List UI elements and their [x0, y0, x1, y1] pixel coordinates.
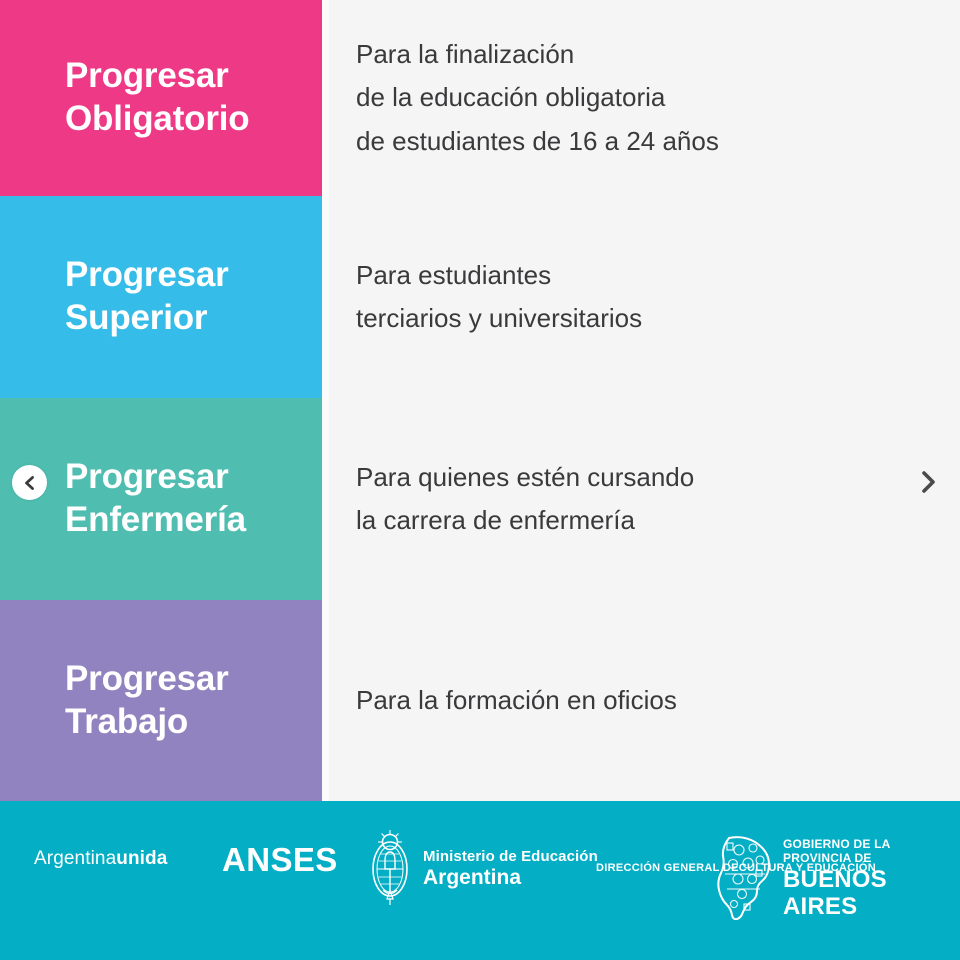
program-title-cell-enfermeria: Progresar Enfermería: [0, 398, 322, 600]
desc-line-1: Para la finalización: [356, 33, 900, 76]
program-desc-cell-enfermeria: Para quienes estén cursando la carrera d…: [329, 398, 960, 600]
program-title-enfermeria: Progresar Enfermería: [0, 456, 322, 541]
program-title-line1: Progresar: [65, 56, 229, 95]
column-divider: [322, 0, 329, 196]
program-title-line1: Progresar: [65, 457, 229, 496]
column-divider: [322, 196, 329, 398]
column-divider: [322, 398, 329, 600]
buenos-aires-wordmark: GOBIERNO DE LA PROVINCIA DE BUENOS AIRES: [783, 838, 960, 921]
buenos-aires-line1: GOBIERNO DE LA PROVINCIA DE: [783, 838, 960, 866]
program-title-cell-obligatorio: Progresar Obligatorio: [0, 0, 322, 196]
ministerio-line2: Argentina: [423, 866, 598, 891]
ministerio-wordmark: Ministerio de Educación Argentina: [423, 848, 598, 890]
desc-line-2: la carrera de enfermería: [356, 499, 900, 542]
program-title-trabajo: Progresar Trabajo: [0, 658, 322, 743]
desc-line-1: Para quienes estén cursando: [356, 456, 900, 499]
argentina-unida-bold: unida: [116, 848, 167, 870]
desc-line-2: de la educación obligatoria: [356, 76, 900, 119]
program-row-superior[interactable]: Progresar Superior Para estudiantes terc…: [0, 196, 960, 398]
ministerio-line1: Ministerio de Educación: [423, 848, 598, 866]
program-title-line2: Trabajo: [65, 701, 316, 744]
program-desc-cell-obligatorio: Para la finalización de la educación obl…: [329, 0, 960, 196]
program-description-obligatorio: Para la finalización de la educación obl…: [329, 33, 960, 162]
program-description-superior: Para estudiantes terciarios y universita…: [329, 254, 960, 340]
program-desc-cell-superior: Para estudiantes terciarios y universita…: [329, 196, 960, 398]
program-title-obligatorio: Progresar Obligatorio: [0, 55, 322, 140]
footer-logo-bar: Argentina unida ANSES: [0, 801, 960, 960]
chevron-left-icon: [21, 474, 39, 492]
program-title-cell-trabajo: Progresar Trabajo: [0, 600, 322, 801]
program-row-enfermeria[interactable]: Progresar Enfermería Para quienes estén …: [0, 398, 960, 600]
logo-gobierno-provincia-buenos-aires: GOBIERNO DE LA PROVINCIA DE BUENOS AIRES: [715, 834, 960, 925]
argentina-unida-light: Argentina: [34, 848, 116, 870]
logo-argentina-unida: Argentina unida: [34, 848, 167, 870]
progresar-infographic: Progresar Obligatorio Para la finalizaci…: [0, 0, 960, 960]
argentina-coat-of-arms-icon: [367, 828, 413, 911]
program-description-enfermeria: Para quienes estén cursando la carrera d…: [329, 456, 960, 542]
program-title-superior: Progresar Superior: [0, 254, 322, 339]
logo-anses: ANSES: [222, 841, 338, 879]
desc-line-1: Para la formación en oficios: [356, 679, 900, 722]
anses-wordmark: ANSES: [222, 841, 338, 879]
program-row-obligatorio[interactable]: Progresar Obligatorio Para la finalizaci…: [0, 0, 960, 196]
chevron-right-icon: [917, 468, 939, 496]
program-desc-cell-trabajo: Para la formación en oficios: [329, 600, 960, 801]
buenos-aires-line2: BUENOS AIRES: [783, 866, 960, 922]
program-title-cell-superior: Progresar Superior: [0, 196, 322, 398]
program-title-line1: Progresar: [65, 659, 229, 698]
desc-line-3: de estudiantes de 16 a 24 años: [356, 120, 900, 163]
program-title-line2: Superior: [65, 297, 316, 340]
column-divider: [322, 600, 329, 801]
desc-line-2: terciarios y universitarios: [356, 297, 900, 340]
program-title-line1: Progresar: [65, 255, 229, 294]
program-row-trabajo[interactable]: Progresar Trabajo Para la formación en o…: [0, 600, 960, 801]
program-list: Progresar Obligatorio Para la finalizaci…: [0, 0, 960, 801]
buenos-aires-province-map-icon: [715, 834, 775, 925]
program-description-trabajo: Para la formación en oficios: [329, 679, 960, 722]
program-title-line2: Obligatorio: [65, 98, 316, 141]
carousel-prev-button[interactable]: [12, 465, 47, 500]
desc-line-1: Para estudiantes: [356, 254, 900, 297]
program-title-line2: Enfermería: [65, 499, 316, 542]
logo-ministerio-educacion: Ministerio de Educación Argentina: [367, 828, 598, 911]
carousel-next-button[interactable]: [908, 462, 948, 502]
